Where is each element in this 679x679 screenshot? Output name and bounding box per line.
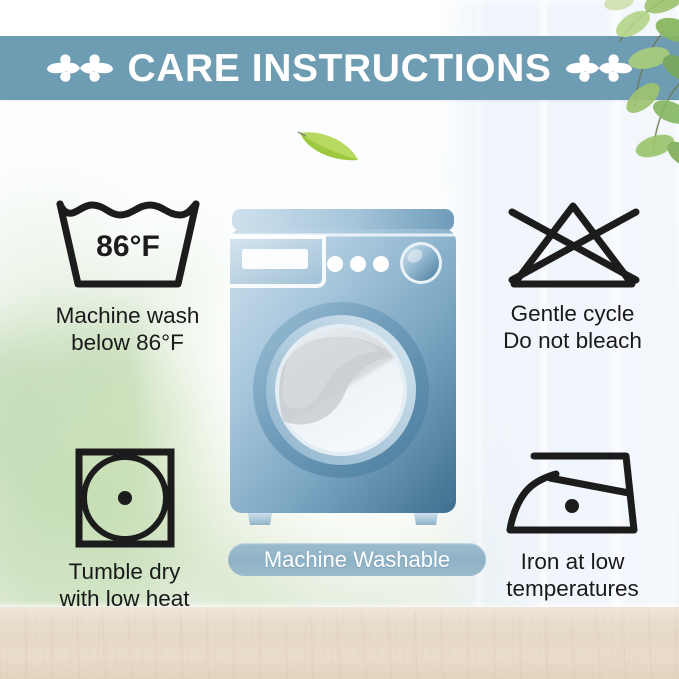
tumble-dry-square-icon (73, 446, 177, 550)
care-caption: Machine wash below 86°F (56, 303, 200, 356)
green-leaf-icon (296, 124, 362, 164)
washer-foot (414, 513, 438, 525)
care-symbol-do-not-bleach: Gentle cycle Do not bleach (470, 196, 675, 354)
page-title: CARE INSTRUCTIONS (113, 49, 565, 88)
washing-machine-illustration (228, 207, 458, 537)
care-caption-line-2: temperatures (506, 576, 639, 603)
care-symbol-iron-low: Iron at low temperatures (470, 446, 675, 602)
care-caption-line-1: Machine wash (56, 303, 200, 330)
care-instructions-graphic: CARE INSTRUCTIONS (0, 0, 679, 679)
washer-button (373, 256, 389, 272)
care-caption: Gentle cycle Do not bleach (503, 301, 642, 354)
care-caption-line-2: with low heat (59, 586, 189, 613)
care-caption-line-1: Tumble dry (59, 559, 189, 586)
badge-label: Machine Washable (264, 549, 450, 571)
care-caption-line-2: below 86°F (56, 330, 200, 357)
care-symbol-tumble-dry: Tumble dry with low heat (22, 446, 227, 612)
fleur-de-lis-ornament-right-icon (566, 46, 632, 90)
triangle-crossed-out-icon (498, 196, 648, 294)
washer-button (327, 256, 343, 272)
table-wood-grain (0, 611, 679, 679)
drawer-slot (242, 249, 308, 269)
wash-tub-icon: 86°F (52, 196, 204, 294)
washer-top-lid (232, 209, 454, 231)
care-symbol-machine-wash: 86°F Machine wash below 86°F (20, 196, 235, 356)
fleur-de-lis-ornament-left-icon (47, 46, 113, 90)
care-caption: Tumble dry with low heat (59, 559, 189, 612)
control-knob (403, 245, 439, 281)
washer-foot (248, 513, 272, 525)
wash-temperature-label: 86°F (96, 230, 160, 263)
washer-button (350, 256, 366, 272)
care-caption-line-2: Do not bleach (503, 328, 642, 355)
iron-one-dot-icon (500, 446, 646, 542)
machine-washable-badge: Machine Washable (228, 543, 486, 576)
care-caption-line-1: Gentle cycle (503, 301, 642, 328)
care-caption: Iron at low temperatures (506, 549, 639, 602)
care-caption-line-1: Iron at low (506, 549, 639, 576)
header-banner: CARE INSTRUCTIONS (0, 36, 679, 100)
